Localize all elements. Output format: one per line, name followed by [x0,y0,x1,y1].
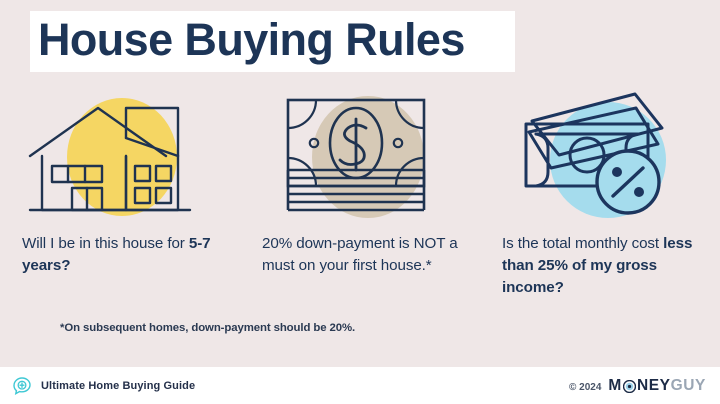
dollar-bill-icon [262,88,462,220]
infographic-canvas: House Buying Rules [0,0,720,404]
rule-column-house: Will I be in this house for 5-7 years? [0,88,240,318]
caption-plain-text: Will I be in this house for [22,235,189,252]
moneyguy-logo: M NEY GUY [608,377,706,395]
footnote-text: *On subsequent homes, down-payment shoul… [60,322,355,334]
speech-bubble-plus-icon [12,376,32,396]
rule-caption-monthly-cost: Is the total monthly cost less than 25% … [502,233,707,299]
footer-guide-label: Ultimate Home Buying Guide [41,380,195,392]
rule-caption-downpayment: 20% down-payment is NOT a must on your f… [262,233,467,277]
footer-guide-link[interactable]: Ultimate Home Buying Guide [12,376,195,396]
rules-columns: Will I be in this house for 5-7 years? [0,88,720,318]
cash-percent-icon-stage [502,88,702,220]
rule-column-downpayment: 20% down-payment is NOT a must on your f… [240,88,480,318]
caption-plain-text: Is the total monthly cost [502,235,663,252]
page-title: House Buying Rules [38,11,518,69]
footer-brand-area: © 2024 M NEY GUY [569,377,706,395]
copyright-text: © 2024 [569,382,601,393]
house-icon [22,88,222,220]
rule-caption-house: Will I be in this house for 5-7 years? [22,233,227,277]
brand-letter-m: M [608,377,622,395]
brand-letters-ney: NEY [637,377,671,395]
house-icon-stage [22,88,222,220]
brand-o-mark-icon [623,380,636,393]
dollar-bill-icon-stage [262,88,462,220]
footer-bar: Ultimate Home Buying Guide © 2024 M NEY … [0,367,720,404]
caption-plain-text: 20% down-payment is NOT a must on your f… [262,235,458,274]
rule-column-monthly-cost: Is the total monthly cost less than 25% … [480,88,720,318]
brand-letters-guy: GUY [671,377,706,395]
cash-percent-icon [502,88,702,220]
